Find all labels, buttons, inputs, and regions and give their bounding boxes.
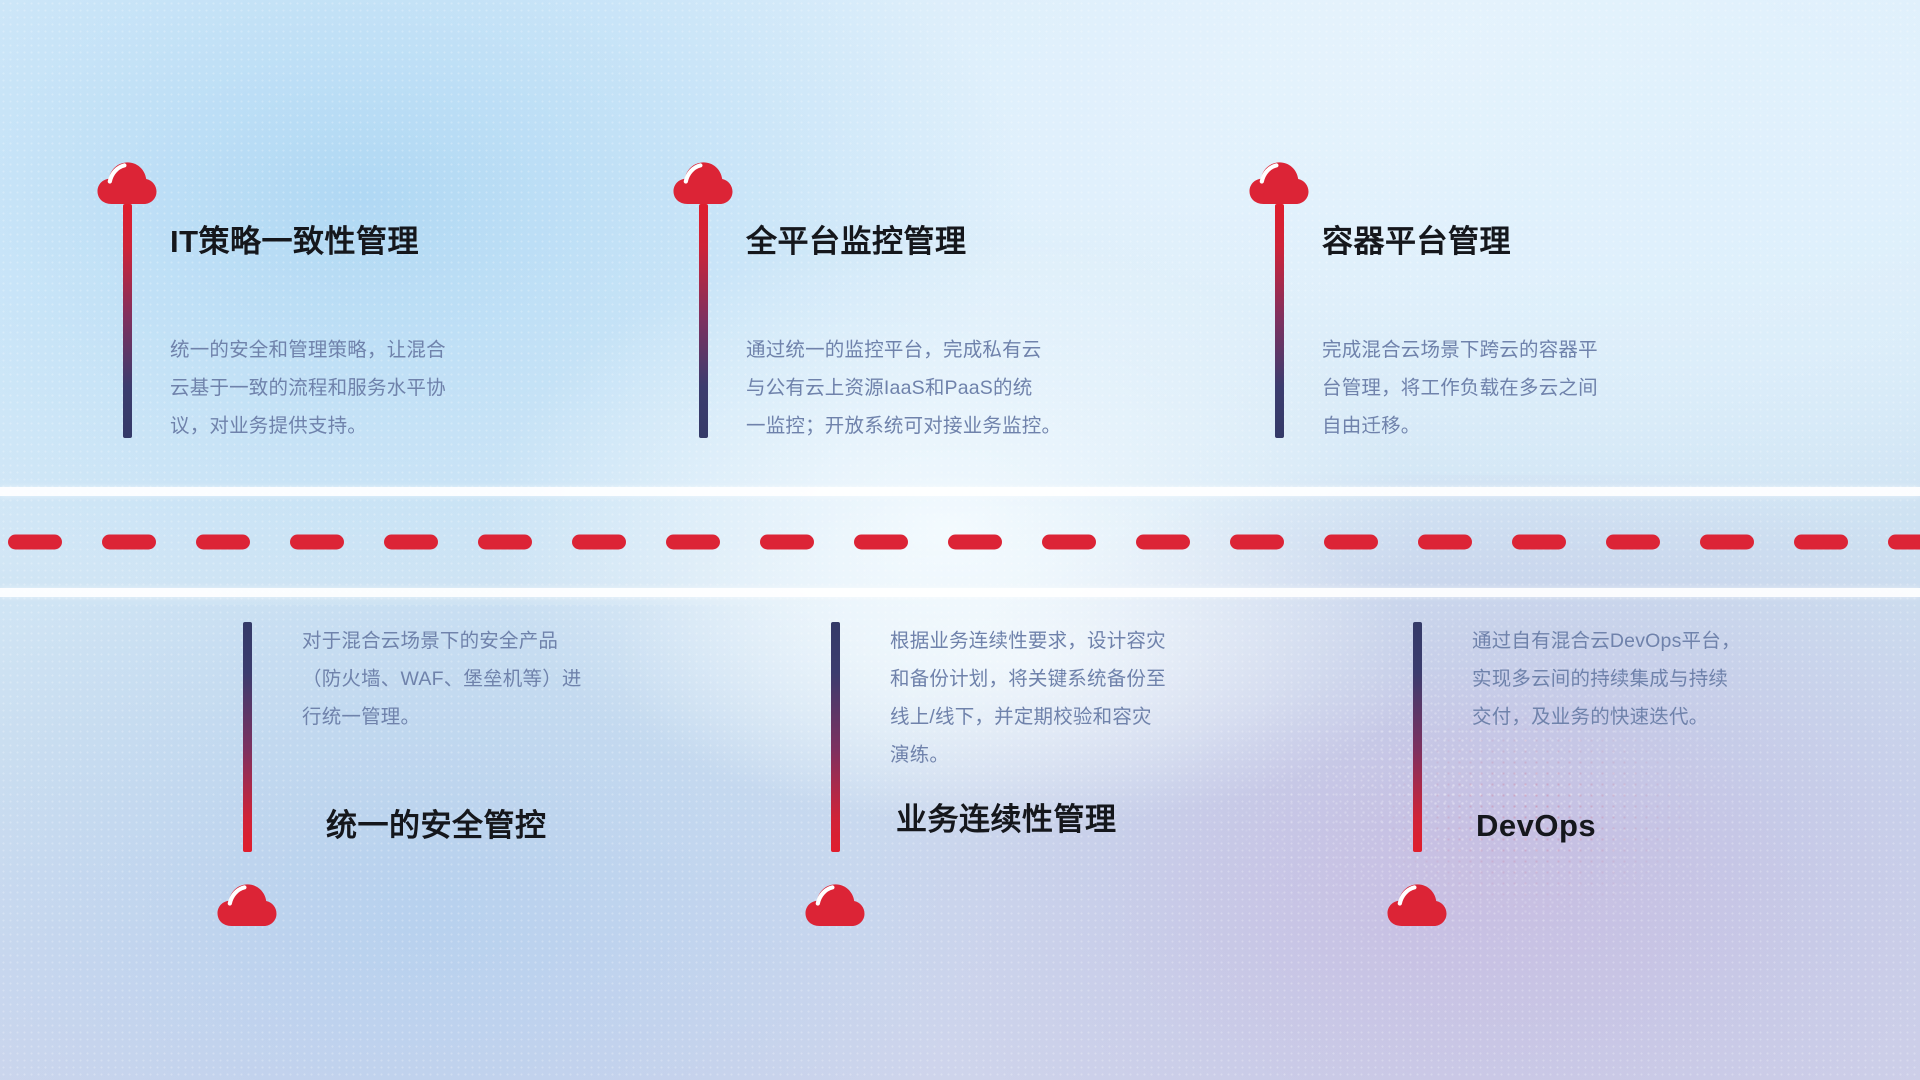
cloud-icon	[216, 882, 278, 928]
feature-title: IT策略一致性管理	[170, 226, 576, 257]
cloud-icon	[1248, 160, 1310, 206]
cloud-icon	[1386, 882, 1448, 928]
road-dash	[1324, 535, 1378, 550]
road-dash	[1418, 535, 1472, 550]
feature-top-3: 容器平台管理 完成混合云场景下跨云的容器平 台管理，将工作负载在多云之间 自由迁…	[1248, 160, 1718, 445]
feature-body: 完成混合云场景下跨云的容器平 台管理，将工作负载在多云之间 自由迁移。	[1322, 331, 1718, 445]
road-dash	[102, 535, 156, 550]
cloud-icon	[804, 882, 866, 928]
feature-top-2: 全平台监控管理 通过统一的监控平台，完成私有云 与公有云上资源IaaS和PaaS…	[672, 160, 1172, 445]
road-dash	[854, 535, 908, 550]
road-dash	[196, 535, 250, 550]
feature-body: 通过统一的监控平台，完成私有云 与公有云上资源IaaS和PaaS的统 一监控；开…	[746, 331, 1172, 445]
road-dash	[1888, 535, 1920, 550]
feature-title: 全平台监控管理	[746, 226, 1172, 257]
road-lane-line-bottom	[0, 588, 1920, 597]
feature-title: 业务连续性管理	[890, 804, 1304, 835]
road-dash	[1512, 535, 1566, 550]
road-dash	[572, 535, 626, 550]
road-dash	[1794, 535, 1848, 550]
feature-title: 容器平台管理	[1322, 226, 1718, 257]
feature-title: DevOps	[1472, 810, 1856, 841]
road-dash	[478, 535, 532, 550]
feature-body: 对于混合云场景下的安全产品 （防火墙、WAF、堡垒机等）进 行统一管理。	[302, 622, 706, 736]
feature-title: 统一的安全管控	[302, 810, 706, 841]
road-divider	[0, 487, 1920, 597]
road-dash	[1042, 535, 1096, 550]
cloud-icon	[96, 160, 158, 206]
road-dash	[1136, 535, 1190, 550]
feature-top-1: IT策略一致性管理 统一的安全和管理策略，让混合 云基于一致的流程和服务水平协 …	[96, 160, 576, 445]
road-dash	[1230, 535, 1284, 550]
road-dash	[8, 535, 62, 550]
road-dash	[760, 535, 814, 550]
road-dash	[290, 535, 344, 550]
road-dash	[1700, 535, 1754, 550]
feature-bottom-3: 通过自有混合云DevOps平台， 实现多云间的持续集成与持续 交付，及业务的快速…	[1386, 622, 1856, 928]
feature-body: 统一的安全和管理策略，让混合 云基于一致的流程和服务水平协 议，对业务提供支持。	[170, 331, 576, 445]
feature-body: 根据业务连续性要求，设计容灾 和备份计划，将关键系统备份至 线上/线下，并定期校…	[890, 622, 1304, 774]
feature-bottom-2: 根据业务连续性要求，设计容灾 和备份计划，将关键系统备份至 线上/线下，并定期校…	[804, 622, 1304, 928]
feature-bottom-1: 对于混合云场景下的安全产品 （防火墙、WAF、堡垒机等）进 行统一管理。 统一的…	[216, 622, 706, 928]
road-dash	[666, 535, 720, 550]
road-center-dashes	[0, 535, 1920, 550]
road-dash	[384, 535, 438, 550]
road-dash	[948, 535, 1002, 550]
road-dash	[1606, 535, 1660, 550]
feature-body: 通过自有混合云DevOps平台， 实现多云间的持续集成与持续 交付，及业务的快速…	[1472, 622, 1856, 736]
road-lane-line-top	[0, 487, 1920, 496]
cloud-icon	[672, 160, 734, 206]
